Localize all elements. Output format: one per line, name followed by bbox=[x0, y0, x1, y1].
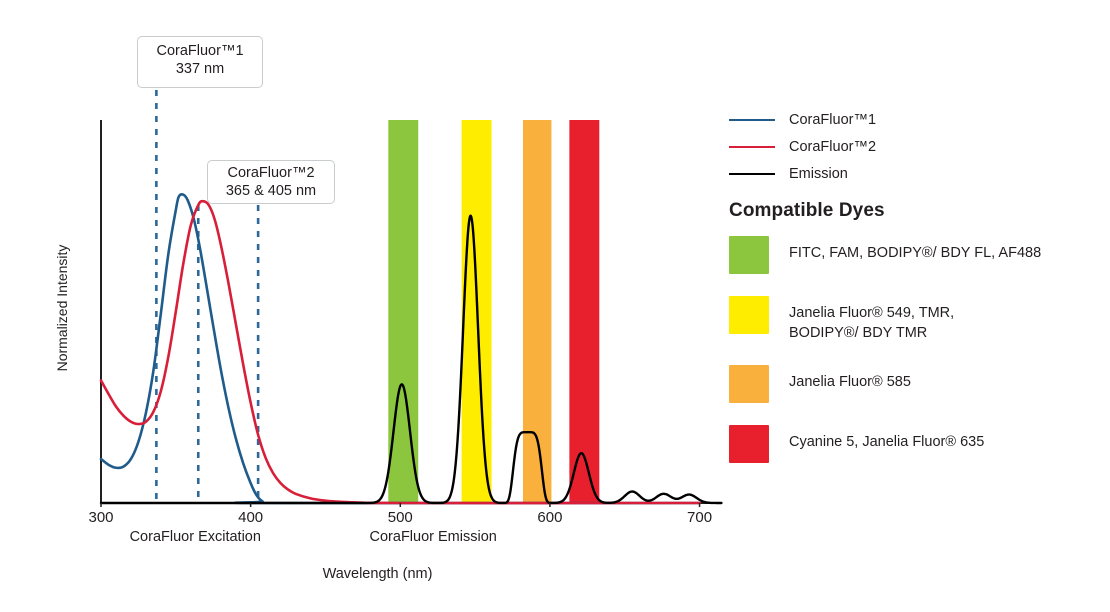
wavelength-bands bbox=[388, 120, 599, 503]
dye-row-3: Cyanine 5, Janelia Fluor® 635 bbox=[729, 425, 1101, 463]
legend-row-1: CoraFluor™2 bbox=[729, 133, 1101, 160]
x-tick-label-400: 400 bbox=[221, 509, 281, 526]
dye-row-0: FITC, FAM, BODIPY®/ BDY FL, AF488 bbox=[729, 236, 1101, 274]
legend-line-label-2: Emission bbox=[789, 166, 848, 182]
callout-1-value: 337 nm bbox=[148, 61, 252, 79]
callout-corafluor-2: CoraFluor™2 365 & 405 nm bbox=[207, 160, 335, 204]
spectra-figure: CoraFluor™1 337 nm CoraFluor™2 365 & 405… bbox=[0, 0, 1110, 612]
dye-row-2: Janelia Fluor® 585 bbox=[729, 365, 1101, 403]
x-tick-label-300: 300 bbox=[71, 509, 131, 526]
x-axis-title: Wavelength (nm) bbox=[0, 566, 755, 582]
band-2 bbox=[523, 120, 551, 503]
dye-label-1: Janelia Fluor® 549, TMR,BODIPY®/ BDY TMR bbox=[789, 296, 954, 343]
y-axis-title: Normalized Intensity bbox=[54, 218, 70, 398]
dye-label-0: FITC, FAM, BODIPY®/ BDY FL, AF488 bbox=[789, 236, 1041, 263]
callout-2-value: 365 & 405 nm bbox=[216, 183, 326, 201]
section-label-excitation: CoraFluor Excitation bbox=[105, 529, 285, 545]
callout-corafluor-1: CoraFluor™1 337 nm bbox=[137, 36, 263, 88]
x-tick-label-500: 500 bbox=[370, 509, 430, 526]
dye-swatch-3 bbox=[729, 425, 769, 463]
callout-2-title: CoraFluor™2 bbox=[216, 165, 326, 183]
legend-line-swatch-1 bbox=[729, 146, 775, 148]
compatible-dyes-list: FITC, FAM, BODIPY®/ BDY FL, AF488Janelia… bbox=[729, 236, 1101, 485]
series-legend: CoraFluor™1CoraFluor™2Emission bbox=[729, 106, 1101, 187]
dye-label-3: Cyanine 5, Janelia Fluor® 635 bbox=[789, 425, 984, 452]
dye-swatch-1 bbox=[729, 296, 769, 334]
x-tick-label-700: 700 bbox=[670, 509, 730, 526]
dye-swatch-2 bbox=[729, 365, 769, 403]
legend-row-2: Emission bbox=[729, 160, 1101, 187]
legend-line-swatch-0 bbox=[729, 119, 775, 121]
dye-label-2: Janelia Fluor® 585 bbox=[789, 365, 911, 392]
x-tick-label-600: 600 bbox=[520, 509, 580, 526]
band-3 bbox=[569, 120, 599, 503]
section-label-emission: CoraFluor Emission bbox=[343, 529, 523, 545]
legend-line-label-0: CoraFluor™1 bbox=[789, 112, 876, 128]
callout-1-title: CoraFluor™1 bbox=[148, 43, 252, 61]
legend-line-label-1: CoraFluor™2 bbox=[789, 139, 876, 155]
dye-row-1: Janelia Fluor® 549, TMR,BODIPY®/ BDY TMR bbox=[729, 296, 1101, 343]
legend-line-swatch-2 bbox=[729, 173, 775, 175]
compatible-dyes-heading: Compatible Dyes bbox=[729, 200, 885, 222]
dye-swatch-0 bbox=[729, 236, 769, 274]
legend-row-0: CoraFluor™1 bbox=[729, 106, 1101, 133]
